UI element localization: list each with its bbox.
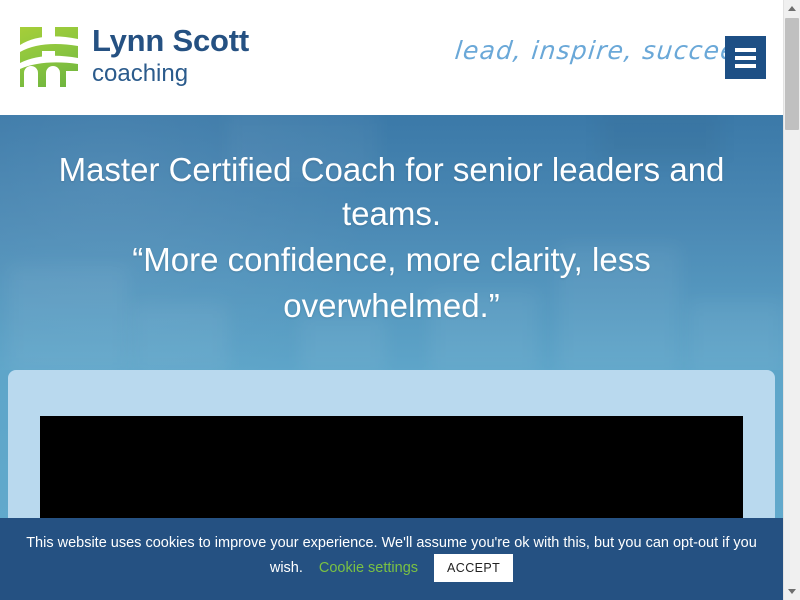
hero-title: Master Certified Coach for senior leader… [0, 148, 783, 235]
brand-subtitle: coaching [92, 60, 249, 88]
tagline: lead, inspire, succeed [453, 36, 755, 65]
site-header: Lynn Scott coaching lead, inspire, succe… [0, 0, 783, 115]
brand-logo[interactable]: Lynn Scott coaching [20, 25, 249, 89]
hero-section: Master Certified Coach for senior leader… [0, 115, 783, 370]
chevron-down-icon [788, 589, 796, 594]
brand-text: Lynn Scott coaching [92, 25, 249, 89]
scroll-down-icon[interactable] [784, 583, 800, 600]
hero-quote: “More confidence, more clarity, less ove… [0, 237, 783, 329]
cookie-consent-banner: This website uses cookies to improve you… [0, 518, 783, 600]
chevron-up-icon [788, 6, 796, 11]
brand-name: Lynn Scott [92, 25, 249, 58]
vertical-scrollbar[interactable] [783, 0, 800, 600]
menu-bar-2 [735, 56, 756, 60]
menu-bar-3 [735, 64, 756, 68]
hero-copy: Master Certified Coach for senior leader… [0, 115, 783, 329]
browser-viewport: Lynn Scott coaching lead, inspire, succe… [0, 0, 800, 600]
lynn-scott-logo-mark-icon [20, 27, 78, 87]
hamburger-menu-icon[interactable] [725, 36, 766, 79]
menu-bar-1 [735, 48, 756, 52]
page-content: Lynn Scott coaching lead, inspire, succe… [0, 0, 783, 600]
cookie-settings-link[interactable]: Cookie settings [319, 560, 418, 576]
scroll-up-icon[interactable] [784, 0, 800, 17]
scrollbar-thumb[interactable] [785, 18, 799, 130]
cookie-accept-button[interactable]: ACCEPT [434, 554, 513, 582]
